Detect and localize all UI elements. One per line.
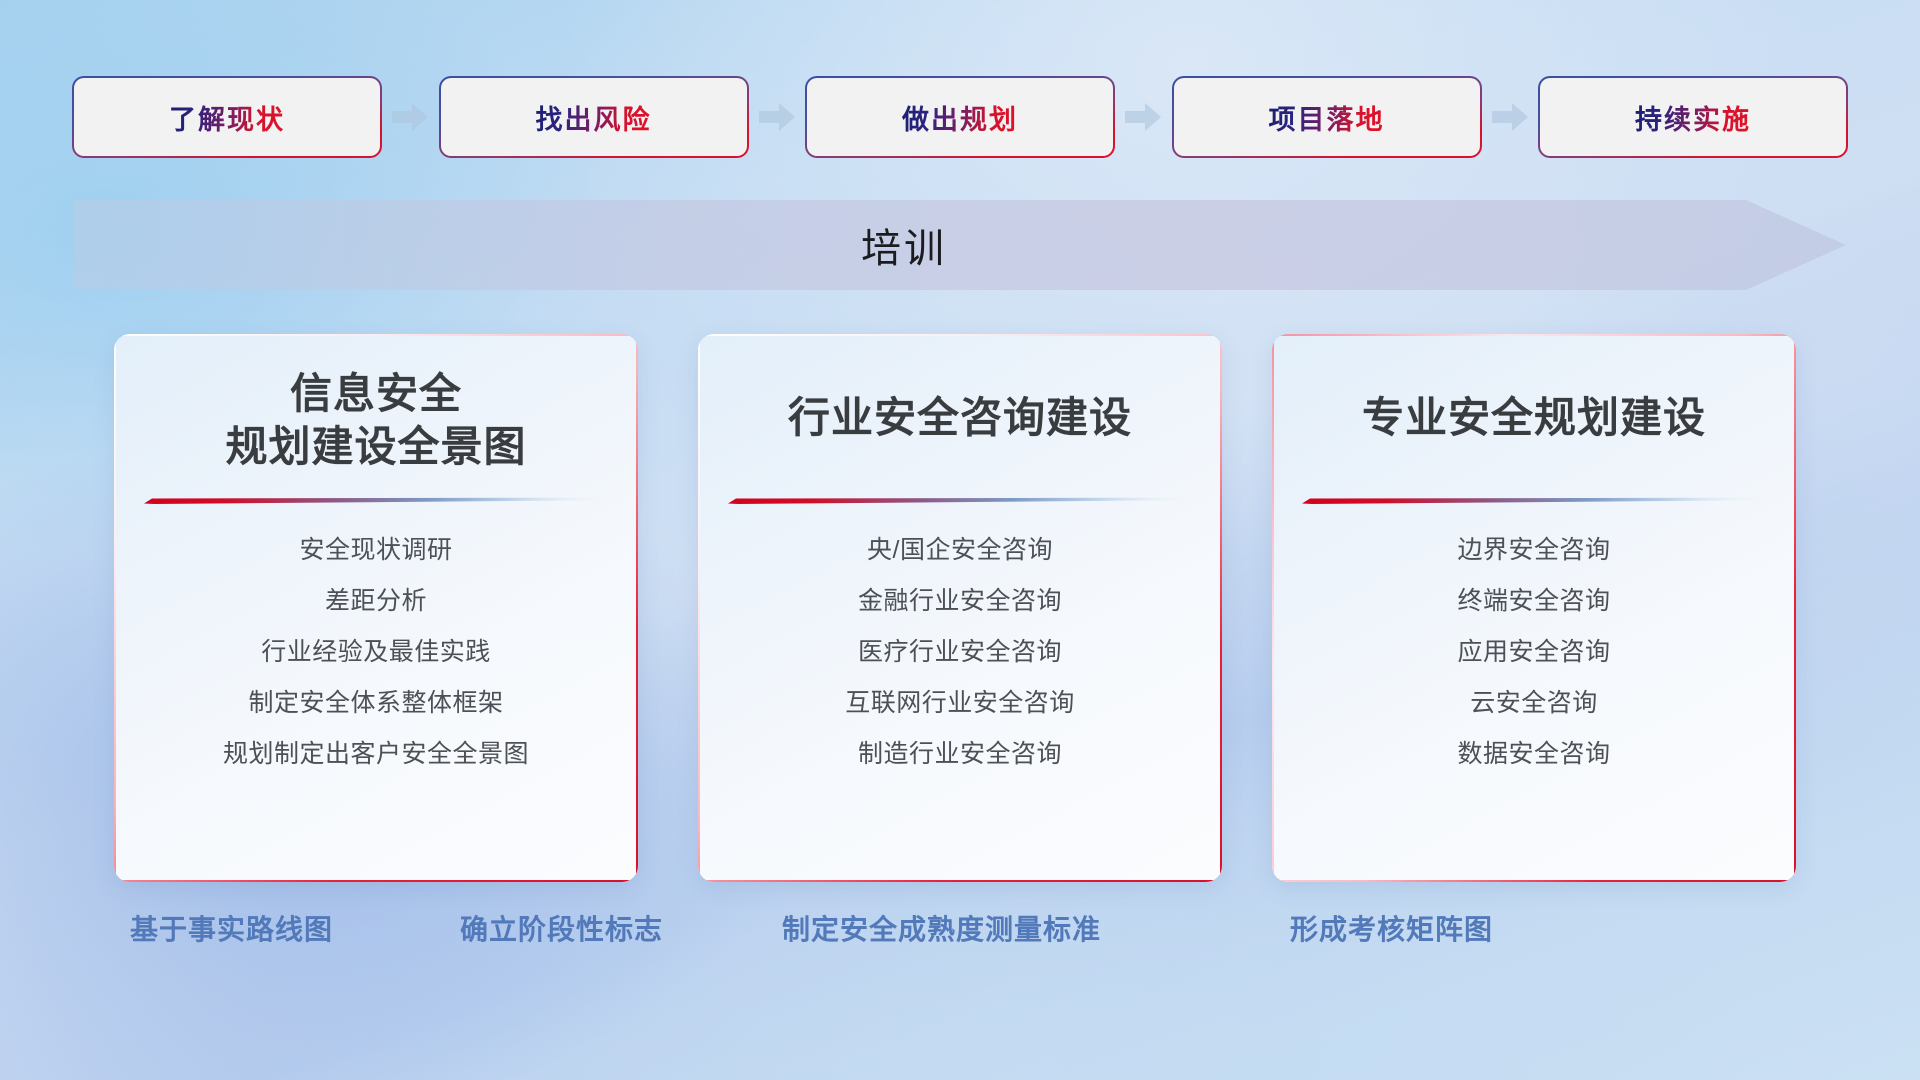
list-item: 央/国企安全咨询	[698, 538, 1222, 563]
step-label: 项目落地	[1269, 98, 1385, 137]
list-item: 制定安全体系整体框架	[114, 691, 638, 716]
footnote-label: 制定安全成熟度测量标准	[782, 908, 1101, 948]
training-banner: 培训	[74, 200, 1846, 290]
list-item: 医疗行业安全咨询	[698, 640, 1222, 665]
right-arrow-icon	[390, 100, 430, 134]
card-item-list: 安全现状调研 差距分析 行业经验及最佳实践 制定安全体系整体框架 规划制定出客户…	[114, 538, 638, 793]
footnote-row: 基于事实路线图 确立阶段性标志 制定安全成熟度测量标准 形成考核矩阵图	[0, 908, 1920, 956]
card-item-list: 边界安全咨询 终端安全咨询 应用安全咨询 云安全咨询 数据安全咨询	[1272, 538, 1796, 793]
list-item: 制造行业安全咨询	[698, 742, 1222, 767]
list-item: 应用安全咨询	[1272, 640, 1796, 665]
banner-title: 培训	[74, 200, 1734, 290]
step-box-5[interactable]: 持续实施	[1540, 78, 1846, 156]
list-item: 安全现状调研	[114, 538, 638, 563]
step-label: 做出规划	[902, 98, 1018, 137]
card-item-list: 央/国企安全咨询 金融行业安全咨询 医疗行业安全咨询 互联网行业安全咨询 制造行…	[698, 538, 1222, 793]
card-title-line: 信息安全	[132, 368, 620, 421]
card-information-security-panorama[interactable]: 信息安全 规划建设全景图 安全现状调研 差	[114, 334, 638, 882]
right-arrow-icon	[757, 100, 797, 134]
step-box-1[interactable]: 了解现状	[74, 78, 380, 156]
list-item: 终端安全咨询	[1272, 589, 1796, 614]
list-item: 规划制定出客户安全全景图	[114, 742, 638, 767]
card-divider	[1302, 497, 1760, 504]
right-arrow-icon	[1490, 100, 1530, 134]
footnote-label: 确立阶段性标志	[460, 908, 663, 948]
card-title-line: 规划建设全景图	[132, 421, 620, 474]
slide-canvas: 了解现状 找出风险 做出规划 项目落地 持续实施	[0, 0, 1920, 1080]
list-item: 金融行业安全咨询	[698, 589, 1222, 614]
footnote-label: 形成考核矩阵图	[1290, 908, 1493, 948]
process-step-row: 了解现状 找出风险 做出规划 项目落地 持续实施	[74, 78, 1846, 156]
card-title: 专业安全规划建设	[1272, 392, 1796, 445]
right-arrow-icon	[1123, 100, 1163, 134]
footnote-label: 基于事实路线图	[130, 908, 333, 948]
list-item: 边界安全咨询	[1272, 538, 1796, 563]
step-box-4[interactable]: 项目落地	[1174, 78, 1480, 156]
step-box-3[interactable]: 做出规划	[807, 78, 1113, 156]
card-title: 行业安全咨询建设	[698, 392, 1222, 445]
step-label: 找出风险	[536, 98, 652, 137]
list-item: 互联网行业安全咨询	[698, 691, 1222, 716]
card-professional-security-planning[interactable]: 专业安全规划建设 边界安全咨询 终端安全咨询	[1272, 334, 1796, 882]
card-divider	[728, 497, 1186, 504]
list-item: 行业经验及最佳实践	[114, 640, 638, 665]
card-title-line: 行业安全咨询建设	[716, 392, 1204, 445]
card-title: 信息安全 规划建设全景图	[114, 368, 638, 474]
card-divider	[144, 497, 602, 504]
list-item: 差距分析	[114, 589, 638, 614]
list-item: 云安全咨询	[1272, 691, 1796, 716]
cards-row: 信息安全 规划建设全景图 安全现状调研 差	[0, 334, 1920, 882]
step-box-2[interactable]: 找出风险	[441, 78, 747, 156]
card-industry-security-consulting[interactable]: 行业安全咨询建设 央/国企安全咨询 金融行业安全咨询	[698, 334, 1222, 882]
card-title-line: 专业安全规划建设	[1290, 392, 1778, 445]
list-item: 数据安全咨询	[1272, 742, 1796, 767]
step-label: 了解现状	[169, 98, 285, 137]
step-label: 持续实施	[1635, 98, 1751, 137]
